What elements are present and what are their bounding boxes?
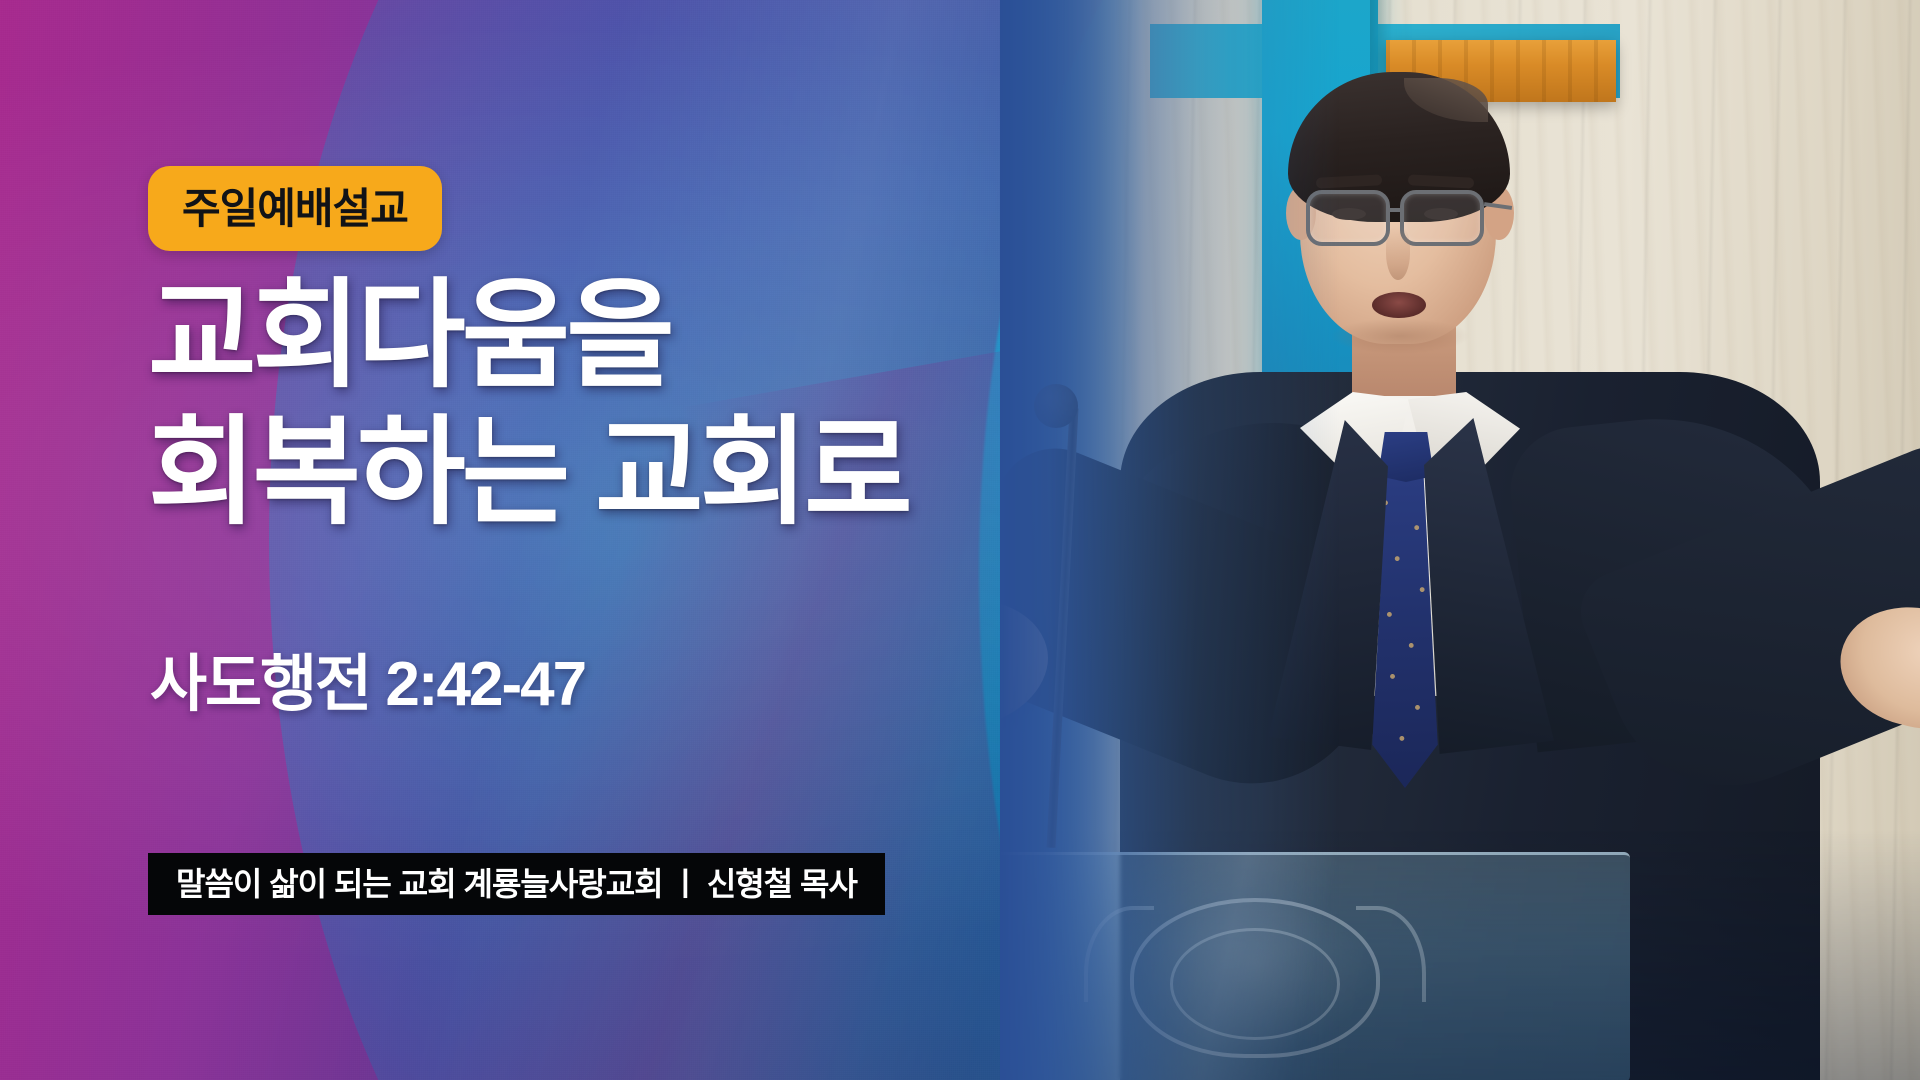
sermon-title-line-1: 교회다움을 [148,268,1188,405]
sermon-category-label: 주일예배설교 [182,188,408,230]
church-caption-bar: 말씀이 삶이 되는 교회 계룡늘사랑교회 ㅣ 신형철 목사 [148,853,885,915]
scripture-reference: 사도행전 2:42-47 [150,654,585,716]
sermon-title: 교회다움을 회복하는 교회로 [148,268,1188,542]
church-caption-text: 말씀이 삶이 되는 교회 계룡늘사랑교회 ㅣ 신형철 목사 [176,868,857,900]
sermon-title-line-2: 회복하는 교회로 [148,405,1188,542]
sermon-title-slide: 주일예배설교 교회다움을 회복하는 교회로 사도행전 2:42-47 말씀이 삶… [0,0,1920,1080]
sermon-category-badge: 주일예배설교 [148,166,442,251]
text-overlay: 주일예배설교 교회다움을 회복하는 교회로 사도행전 2:42-47 말씀이 삶… [0,0,1920,1080]
